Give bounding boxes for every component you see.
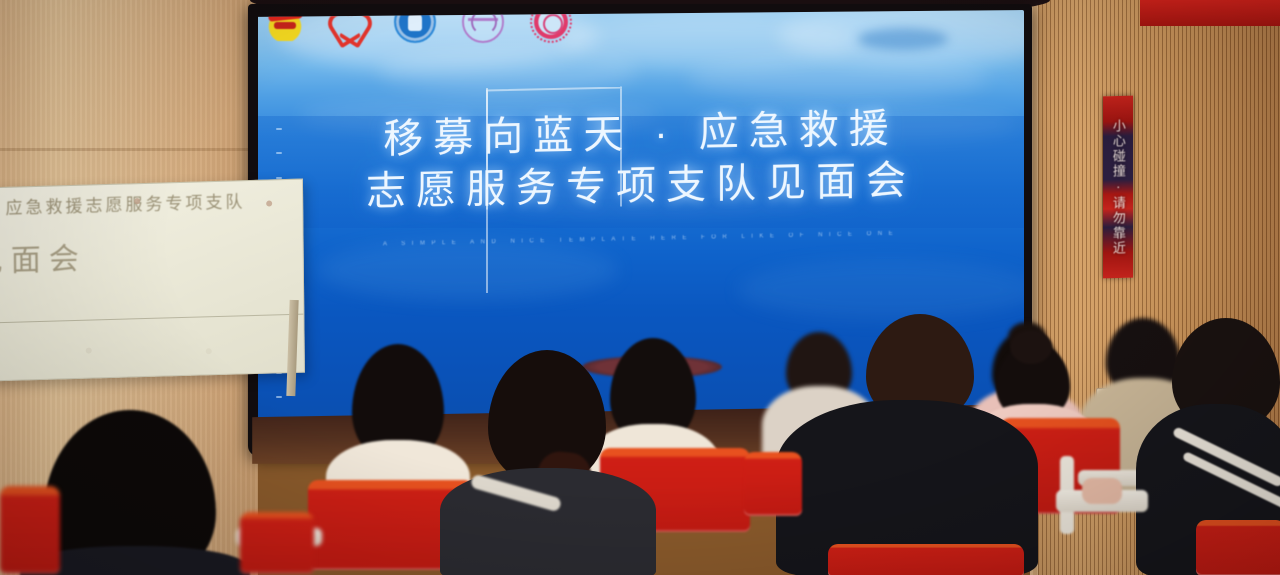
ceiling-red-accent [1140, 0, 1280, 26]
whiteboard: 天 应急救援志愿服务专项支队 见面会 [0, 179, 305, 382]
headline-subtitle: a simple and nice template here for like… [258, 228, 1024, 250]
whiteboard-text-line-1: 天 应急救援志愿服务专项支队 [0, 187, 246, 219]
whiteboard-rule-line [0, 314, 303, 324]
wall-seam [0, 148, 258, 151]
auditorium-chair[interactable] [0, 486, 60, 574]
conference-hall-photo: 小心碰撞·请勿靠近 移募向蓝天 · 应急救援 志愿服务专项支队见面会 a sim… [0, 0, 1280, 575]
whiteboard-magnet [266, 200, 272, 206]
auditorium-chair[interactable] [828, 544, 1024, 575]
whiteboard-magnet [86, 348, 92, 354]
hand [1082, 478, 1122, 504]
wall-sign-text: 小心碰撞·请勿靠近 [1103, 96, 1133, 279]
whiteboard-text-line-2: 见面会 [0, 234, 87, 281]
wall-warning-sign: 小心碰撞·请勿靠近 [1103, 96, 1133, 279]
red-gear-circle-logo-icon [530, 10, 572, 43]
screen-headline: 移募向蓝天 · 应急救援 志愿服务专项支队见面会 a simple and ni… [258, 100, 1024, 250]
whiteboard-magnet [206, 348, 212, 354]
auditorium-chair[interactable] [744, 452, 802, 516]
auditorium-chair[interactable] [240, 512, 314, 574]
auditorium-chair[interactable] [1196, 520, 1280, 575]
